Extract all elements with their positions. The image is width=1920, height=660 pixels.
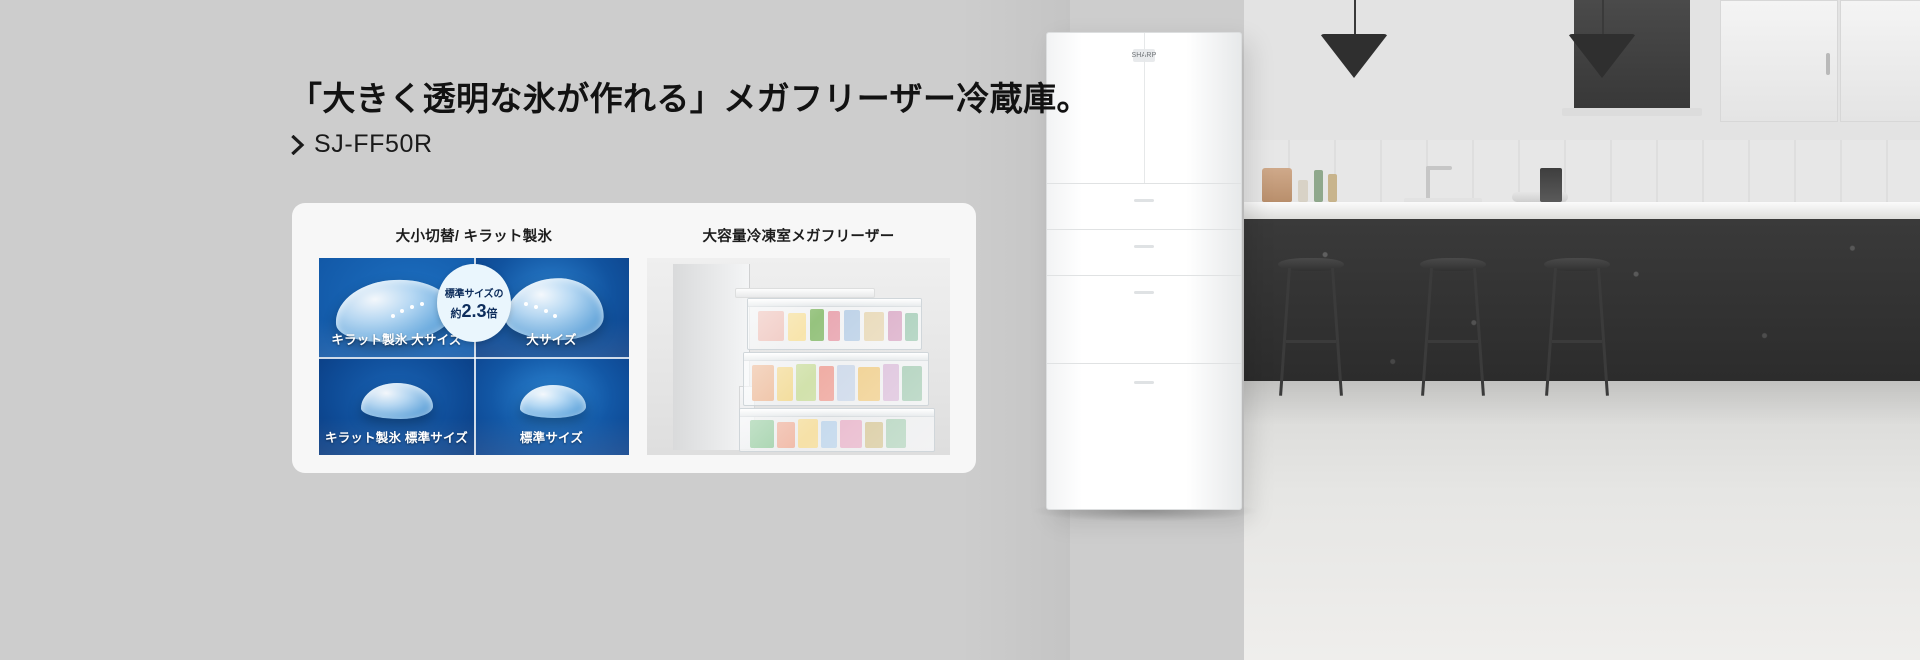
kitchen-floor bbox=[1244, 381, 1920, 660]
ice-cell-kirat-standard: キラット製氷 標準サイズ bbox=[319, 357, 474, 456]
counter-top bbox=[1244, 202, 1920, 219]
counter-cup bbox=[1298, 180, 1308, 202]
french-door-split bbox=[1144, 33, 1145, 183]
chevron-right-icon bbox=[291, 135, 305, 155]
drawer-handle bbox=[740, 409, 934, 417]
lamp-shade bbox=[1568, 34, 1636, 78]
knife-block bbox=[1540, 168, 1562, 202]
control-panel bbox=[1134, 199, 1154, 202]
cabinet-handle-icon bbox=[1826, 53, 1830, 75]
feature-card: 大小切替/ キラット製氷 キラット製氷 大サイズ 大サイズ キラット製氷 標準サ… bbox=[292, 203, 976, 473]
counter-jars bbox=[1262, 168, 1292, 202]
stool-leg bbox=[1473, 268, 1485, 396]
pendant-lamp bbox=[1354, 0, 1356, 36]
control-panel bbox=[1134, 381, 1154, 384]
bar-stool bbox=[1420, 258, 1486, 406]
door-seam bbox=[1047, 275, 1241, 276]
ice-cell-label: 標準サイズ bbox=[474, 427, 629, 446]
ice-cube-shape bbox=[361, 383, 433, 419]
model-number: SJ-FF50R bbox=[314, 130, 433, 159]
door-seam bbox=[1047, 183, 1241, 184]
callout-prefix: 約 bbox=[450, 308, 461, 320]
freezer-drawer-middle bbox=[743, 352, 929, 406]
panel-caption: 大容量冷凍室メガフリーザー bbox=[647, 203, 950, 246]
callout-dots-right bbox=[517, 302, 557, 318]
range-hood-lip bbox=[1562, 108, 1702, 116]
callout-line-1: 標準サイズの bbox=[445, 285, 504, 300]
callout-suffix: 倍 bbox=[487, 308, 498, 320]
bar-stool bbox=[1278, 258, 1344, 406]
stool-rung bbox=[1552, 340, 1602, 343]
control-panel bbox=[1134, 291, 1154, 294]
counter-bottle bbox=[1328, 174, 1337, 202]
stool-leg bbox=[1331, 268, 1343, 396]
upper-cabinet-right bbox=[1840, 0, 1920, 122]
pendant-lamp bbox=[1602, 0, 1604, 36]
control-panel bbox=[1134, 245, 1154, 248]
counter-bottle bbox=[1314, 170, 1323, 202]
page-title: 「大きく透明な氷が作れる」メガフリーザー冷蔵庫。 bbox=[289, 72, 1090, 120]
callout-value: 2.3 bbox=[461, 301, 486, 321]
stool-leg bbox=[1597, 268, 1609, 396]
ice-cell-label: キラット製氷 標準サイズ bbox=[319, 427, 474, 446]
stool-leg bbox=[1279, 268, 1291, 396]
upper-cabinet-left bbox=[1720, 0, 1838, 122]
ice-comparison-image: キラット製氷 大サイズ 大サイズ キラット製氷 標準サイズ 標準サイズ bbox=[319, 258, 629, 455]
callout-line-2: 約2.3倍 bbox=[450, 301, 497, 322]
ice-cell-standard: 標準サイズ bbox=[474, 357, 629, 456]
kitchen-faucet bbox=[1426, 166, 1430, 202]
ice-cube-shape bbox=[520, 385, 586, 418]
freezer-drawer-bottom bbox=[739, 408, 935, 452]
grid-divider-horizontal bbox=[319, 357, 629, 359]
kitchen-background-image bbox=[1244, 0, 1920, 660]
freezer-drawer-top bbox=[747, 298, 922, 350]
kitchen-faucet-spout bbox=[1426, 166, 1452, 170]
lamp-shade bbox=[1320, 34, 1388, 78]
promo-banner: SHARP 「大きく透明な氷が作れる」メガフリーザー冷蔵庫。 SJ-FF50R … bbox=[0, 0, 1920, 660]
feature-panel-ice: 大小切替/ キラット製氷 キラット製氷 大サイズ 大サイズ キラット製氷 標準サ… bbox=[319, 203, 629, 455]
panel-caption: 大小切替/ キラット製氷 bbox=[319, 203, 629, 246]
freezer-top-shelf bbox=[735, 288, 875, 298]
bar-stool bbox=[1544, 258, 1610, 406]
drawer-handle bbox=[744, 353, 928, 361]
stool-rung bbox=[1428, 340, 1478, 343]
feature-panel-freezer: 大容量冷凍室メガフリーザー bbox=[647, 203, 950, 455]
stool-rung bbox=[1286, 340, 1336, 343]
stool-leg bbox=[1545, 268, 1557, 396]
kitchen-backsplash bbox=[1244, 140, 1920, 203]
door-seam bbox=[1047, 363, 1241, 364]
stool-leg bbox=[1421, 268, 1433, 396]
model-link[interactable]: SJ-FF50R bbox=[291, 130, 433, 159]
drawer-handle bbox=[748, 299, 921, 307]
callout-dots-left bbox=[391, 302, 431, 318]
freezer-photo-image bbox=[647, 258, 950, 455]
size-callout-badge: 標準サイズの 約2.3倍 bbox=[437, 264, 511, 342]
door-seam bbox=[1047, 229, 1241, 230]
